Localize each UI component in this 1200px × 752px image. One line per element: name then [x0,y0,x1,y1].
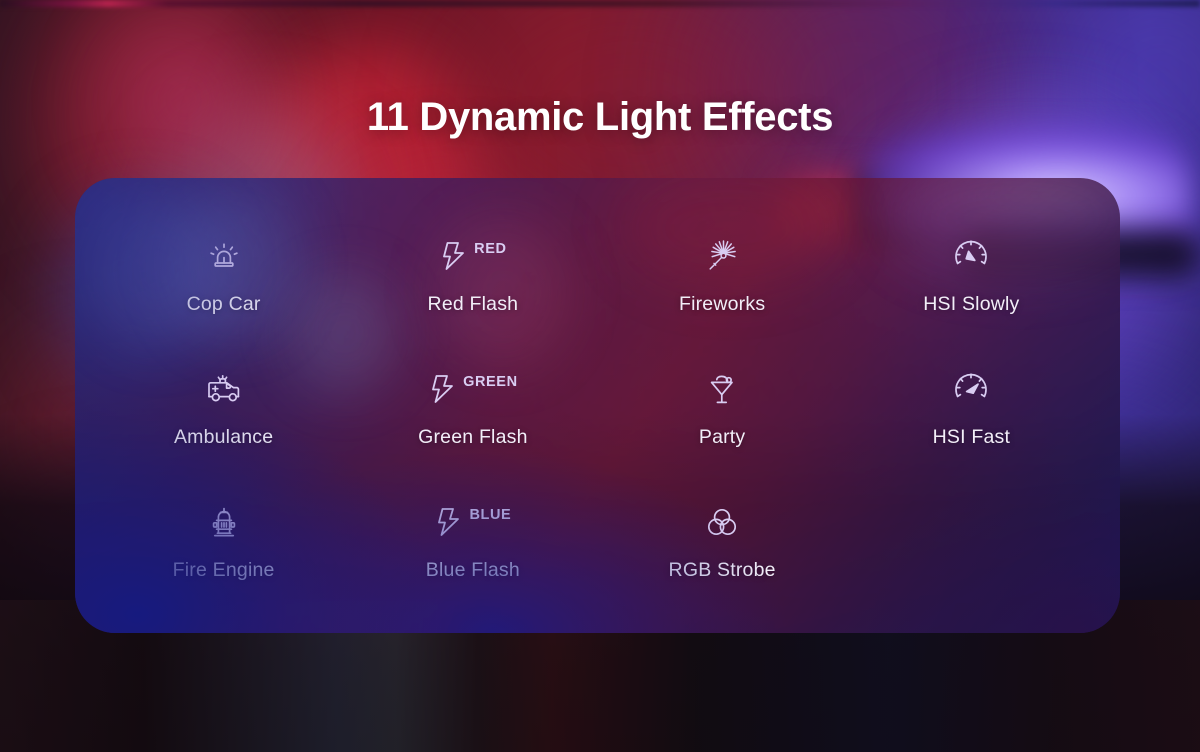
effect-item-fireworks[interactable]: Fireworks [598,208,847,341]
fire-hydrant-icon [206,499,242,545]
effect-label: Fireworks [679,293,765,316]
effect-label: Ambulance [174,426,273,449]
rgb-venn-icon [703,499,741,545]
effect-label: Red Flash [428,293,519,316]
background-top-edge-streak [0,0,1200,7]
effects-card: Cop Car RED Red Flash [75,178,1120,633]
flash-color-text: RED [474,242,506,257]
effect-item-party[interactable]: Party [598,341,847,474]
effect-item-green-flash[interactable]: GREEN Green Flash [348,341,597,474]
effect-label: RGB Strobe [669,559,776,582]
effect-label: Cop Car [187,293,261,316]
siren-beacon-icon [204,233,244,279]
effect-item-hsi-fast[interactable]: HSI Fast [847,341,1096,474]
lightning-bolt-icon: RED [439,233,506,279]
effect-label: Green Flash [418,426,528,449]
effects-grid: Cop Car RED Red Flash [75,178,1120,633]
effect-item-rgb-strobe[interactable]: RGB Strobe [598,474,847,607]
effect-label: HSI Fast [933,426,1010,449]
gauge-fast-icon [952,366,990,412]
page-title: 11 Dynamic Light Effects [0,95,1200,140]
lightning-bolt-icon: BLUE [434,499,511,545]
effect-item-fire-engine[interactable]: Fire Engine [99,474,348,607]
effect-label: Blue Flash [426,559,520,582]
effect-label: HSI Slowly [923,293,1019,316]
lightning-bolt-icon: GREEN [428,366,518,412]
ambulance-icon [203,366,245,412]
effect-item-red-flash[interactable]: RED Red Flash [348,208,597,341]
effect-item-hsi-slowly[interactable]: HSI Slowly [847,208,1096,341]
cocktail-glass-icon [703,366,741,412]
effect-item-cop-car[interactable]: Cop Car [99,208,348,341]
flash-color-text: GREEN [463,375,518,390]
effects-grid-empty-cell [847,474,1096,607]
effect-label: Fire Engine [173,559,275,582]
firework-burst-icon [702,233,742,279]
flash-color-text: BLUE [469,508,511,523]
effect-label: Party [699,426,746,449]
gauge-slow-icon [952,233,990,279]
effect-item-blue-flash[interactable]: BLUE Blue Flash [348,474,597,607]
effect-item-ambulance[interactable]: Ambulance [99,341,348,474]
